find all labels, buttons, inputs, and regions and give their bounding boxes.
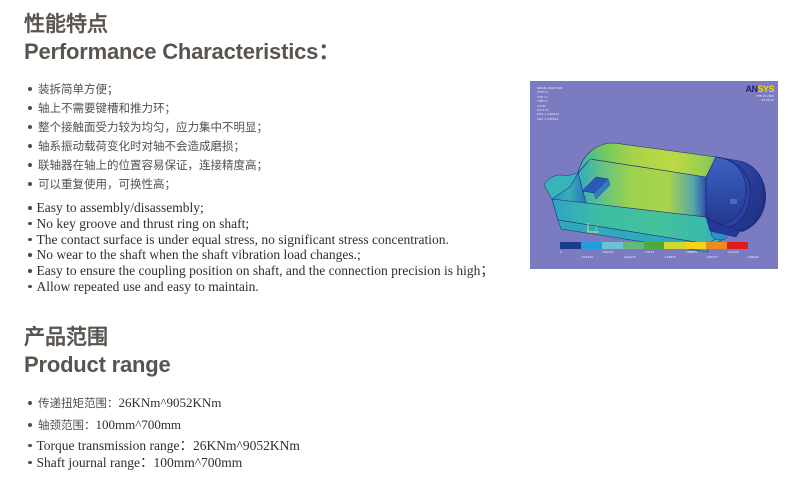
list-item-label: 轴上不需要键槽和推力环；: [38, 99, 176, 118]
bullet-dot-icon: [28, 144, 32, 148]
performance-heading-cn-line: 性能特点: [22, 12, 340, 38]
bullet-dot-icon: [28, 269, 32, 273]
bullet-dot-icon: [28, 206, 32, 210]
bullet-dot-icon: [28, 285, 32, 289]
bullet-dot-icon: [28, 253, 32, 257]
list-item-label: 轴颈范围：: [38, 414, 96, 436]
list-item-label: 传递扭矩范围：: [38, 392, 119, 414]
list-item-label: Allow repeated use and easy to maintain.: [37, 279, 259, 295]
list-item: No wear to the shaft when the shaft vibr…: [28, 247, 494, 263]
bullet-dot-icon: [28, 401, 32, 405]
performance-heading-cn: 性能特点: [24, 12, 108, 38]
bullet-dot-icon: [28, 444, 32, 448]
list-item-label: Shaft journal range：100mm^700mm: [37, 454, 243, 471]
list-item: The contact surface is under equal stres…: [28, 232, 494, 248]
color-scale-segment: [581, 242, 602, 249]
product-range-bullets-en: Torque transmission range：26KNm^9052KNm …: [28, 437, 300, 471]
color-scale-segment: [602, 242, 623, 249]
bullet-dot-icon: [28, 163, 32, 167]
performance-bullets-cn: 装拆简单方便； 轴上不需要键槽和推力环； 整个接触面受力较为均匀，应力集中不明显…: [28, 80, 268, 194]
list-item: 可以重复使用，可换性高；: [28, 175, 268, 194]
list-item: 轴系振动载荷变化时对轴不会造成磨损；: [28, 137, 268, 156]
list-item-label: 可以重复使用，可换性高；: [38, 175, 176, 194]
color-scale-segment: [644, 242, 665, 249]
scale-label: .188885: [685, 250, 697, 254]
fea-timestamp-time: 09:08:46: [745, 98, 774, 102]
list-item-label: The contact surface is under equal stres…: [37, 232, 449, 248]
bullet-dot-icon: [28, 87, 32, 91]
scale-label: .13273: [644, 250, 654, 254]
list-item-label: No key groove and thrust ring on shaft;: [37, 216, 250, 232]
bullet-dot-icon: [28, 125, 32, 129]
scale-label: .0bx3x5: [602, 250, 614, 254]
ansys-wordmark-b: SYS: [757, 84, 774, 94]
list-item: 传递扭矩范围： 26KNm^9052KNm: [28, 392, 221, 414]
product-range-section-heading: 产品范围 Product range: [22, 325, 171, 379]
list-item: Easy to assembly/disassembly;: [28, 200, 494, 216]
fea-analysis-figure: Z NODAL SOLUTION STEP=1 SUB =1 TIME=1 US…: [516, 72, 790, 276]
list-item-label: Easy to ensure the coupling position on …: [37, 263, 494, 279]
scale-label: .232277: [706, 255, 718, 259]
color-scale-segment: [560, 242, 581, 249]
fea-info-block: NODAL SOLUTION STEP=1 SUB =1 TIME=1 USUM…: [537, 86, 632, 121]
bullet-dot-icon: [28, 222, 32, 226]
list-item-label: 整个接触面受力较为均匀，应力集中不明显；: [38, 118, 268, 137]
axis-triad-icon: Z: [586, 221, 602, 235]
list-item: Easy to ensure the coupling position on …: [28, 263, 494, 279]
color-scale-segment: [685, 242, 706, 249]
list-item: 联轴器在轴上的位置容易保证，连接精度高；: [28, 156, 268, 175]
bullet-dot-icon: [28, 423, 32, 427]
bullet-dot-icon: [28, 238, 32, 242]
performance-section-heading: 性能特点 Performance Characteristics：: [22, 12, 340, 66]
performance-heading-en-line: Performance Characteristics：: [22, 38, 340, 66]
list-item: 装拆简单方便；: [28, 80, 268, 99]
scale-label: 0: [560, 250, 562, 254]
product-range-heading-en: Product range: [24, 351, 171, 379]
color-scale-segment: [727, 242, 748, 249]
list-item: Allow repeated use and easy to maintain.: [28, 279, 494, 295]
fea-plot-canvas: Z NODAL SOLUTION STEP=1 SUB =1 TIME=1 US…: [530, 81, 778, 269]
list-item: Torque transmission range：26KNm^9052KNm: [28, 437, 300, 454]
list-item: 整个接触面受力较为均匀，应力集中不明显；: [28, 118, 268, 137]
scale-label: .0ww147: [623, 255, 636, 259]
list-item-label: Easy to assembly/disassembly;: [37, 200, 204, 216]
scale-label: .021182: [581, 255, 593, 259]
bullet-dot-icon: [28, 182, 32, 186]
color-scale-segment: [706, 242, 727, 249]
list-item: Shaft journal range：100mm^700mm: [28, 454, 300, 471]
product-range-heading-cn-line: 产品范围: [22, 325, 171, 351]
list-item-label: 联轴器在轴上的位置容易保证，连接精度高；: [38, 156, 268, 175]
scale-label: .2x1x58: [727, 250, 739, 254]
svg-text:Z: Z: [595, 226, 598, 231]
performance-heading-en: Performance Characteristics：: [24, 38, 340, 66]
bullet-dot-icon: [28, 106, 32, 110]
list-item: 轴上不需要键槽和推力环；: [28, 99, 268, 118]
list-item-value: 100mm^700mm: [96, 414, 182, 436]
product-range-heading-cn: 产品范围: [24, 325, 108, 351]
performance-bullets-en: Easy to assembly/disassembly; No key gro…: [28, 200, 494, 295]
list-item-label: 装拆简单方便；: [38, 80, 119, 99]
product-range-heading-en-line: Product range: [22, 351, 171, 379]
color-scale-segment: [623, 242, 644, 249]
bullet-dot-icon: [28, 461, 32, 465]
color-scale-segment: [664, 242, 685, 249]
product-range-bullets-cn: 传递扭矩范围： 26KNm^9052KNm 轴颈范围： 100mm^700mm: [28, 392, 221, 436]
list-item-value: 26KNm^9052KNm: [119, 392, 222, 414]
scale-label: .296x41: [747, 255, 759, 259]
list-item: No key groove and thrust ring on shaft;: [28, 216, 494, 232]
fea-color-scale: [560, 242, 748, 249]
fea-info-line: SMX =.296642: [537, 117, 632, 121]
list-item-label: No wear to the shaft when the shaft vibr…: [37, 247, 361, 263]
ansys-wordmark: ANSYS: [745, 84, 774, 94]
list-item: 轴颈范围： 100mm^700mm: [28, 414, 221, 436]
ansys-wordmark-a: AN: [745, 84, 757, 94]
scale-label: .162832: [664, 255, 676, 259]
ansys-logo: ANSYS FEB 18 2009 09:08:46: [745, 84, 774, 102]
list-item-label: Torque transmission range：26KNm^9052KNm: [37, 437, 300, 454]
fea-color-scale-labels: 0 .0bx3x5 .13273 .188885 .2x1x58 .021182…: [554, 250, 764, 262]
list-item-label: 轴系振动载荷变化时对轴不会造成磨损；: [38, 137, 245, 156]
